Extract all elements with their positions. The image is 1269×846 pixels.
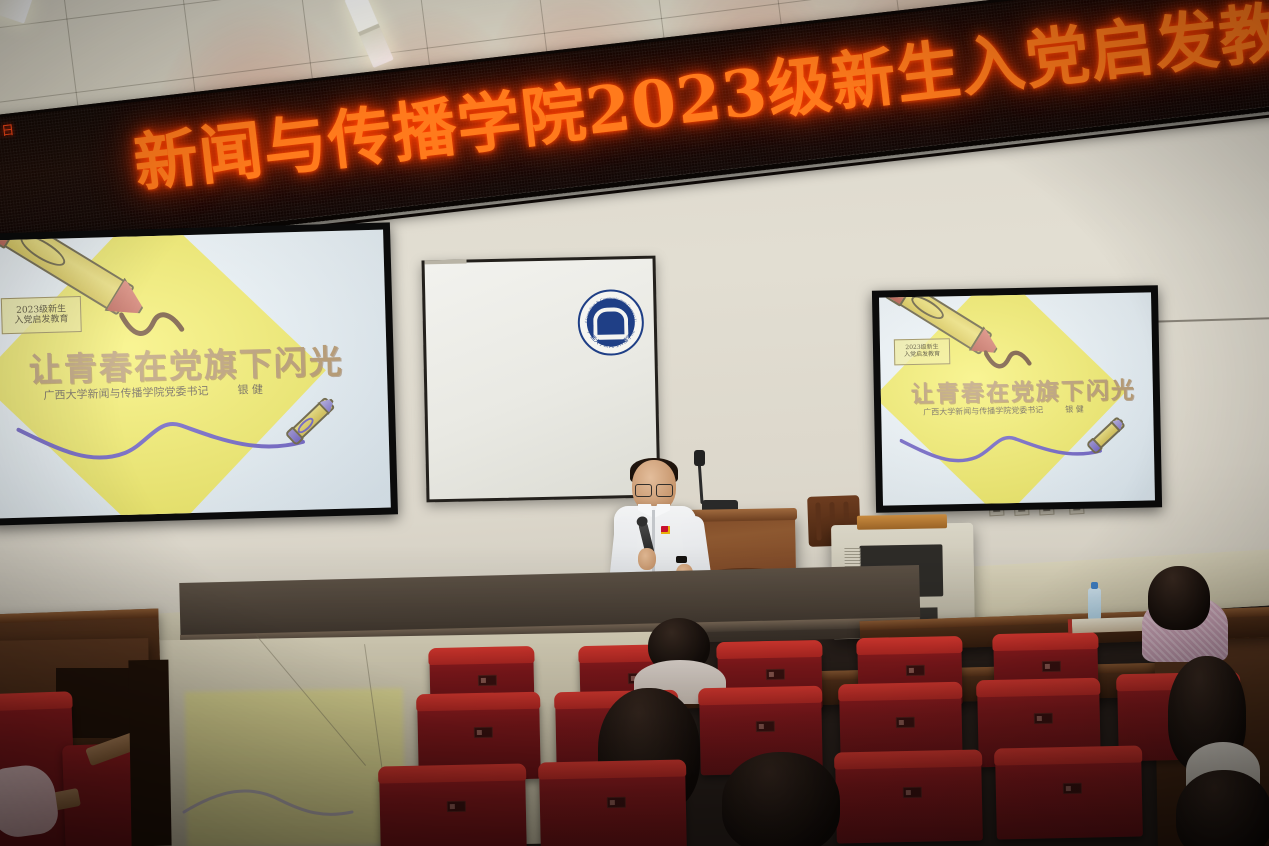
university-logo: School of Journalism & Communication Gua… — [577, 289, 644, 356]
seat — [379, 770, 527, 846]
seat — [539, 766, 687, 846]
seat — [835, 756, 983, 843]
right-projection-screen: 2023级新生 入党启发教育 让青春在党旗下闪光 广西大学新闻与传播学院党委书记… — [872, 285, 1162, 512]
lecture-hall-scene: 01日 新闻与传播学院2023级新生入党启发教育 2023级新生 入党启发教育 … — [0, 0, 1269, 846]
right-slide: 2023级新生 入党启发教育 让青春在党旗下闪光 广西大学新闻与传播学院党委书记… — [879, 292, 1155, 505]
party-lapel-pin — [661, 526, 670, 534]
wristwatch — [676, 556, 687, 563]
floor-reflected-wave — [180, 778, 360, 828]
staff-member-hair — [1148, 566, 1210, 630]
seat — [995, 752, 1143, 839]
open-notebook — [1068, 617, 1150, 634]
left-slide: 2023级新生 入党启发教育 让青春在党旗下闪光 广西大学新闻与传播学院党委书记… — [0, 230, 391, 519]
aisle-shadow — [128, 660, 171, 846]
svg-text:广西大学新闻与传播学院: 广西大学新闻与传播学院 — [586, 328, 637, 350]
speaker-hand-left — [638, 548, 656, 570]
water-bottle — [1088, 588, 1101, 622]
student-hair-long — [1176, 770, 1269, 846]
svg-text:School of Journalism & Communi: School of Journalism & Communication Gua… — [579, 291, 638, 323]
led-banner-date: 01日 — [0, 119, 16, 142]
left-projection-screen: 2023级新生 入党启发教育 让青春在党旗下闪光 广西大学新闻与传播学院党委书记… — [0, 222, 398, 525]
lectern-wood-top — [856, 514, 947, 530]
projector-light-falloff — [879, 292, 1155, 505]
eyeglasses-icon — [635, 484, 673, 495]
projector-light-falloff — [0, 230, 391, 519]
logo-ring-text: School of Journalism & Communication Gua… — [579, 291, 642, 354]
whiteboard-rail — [424, 260, 466, 265]
student-hair-long — [722, 752, 840, 846]
